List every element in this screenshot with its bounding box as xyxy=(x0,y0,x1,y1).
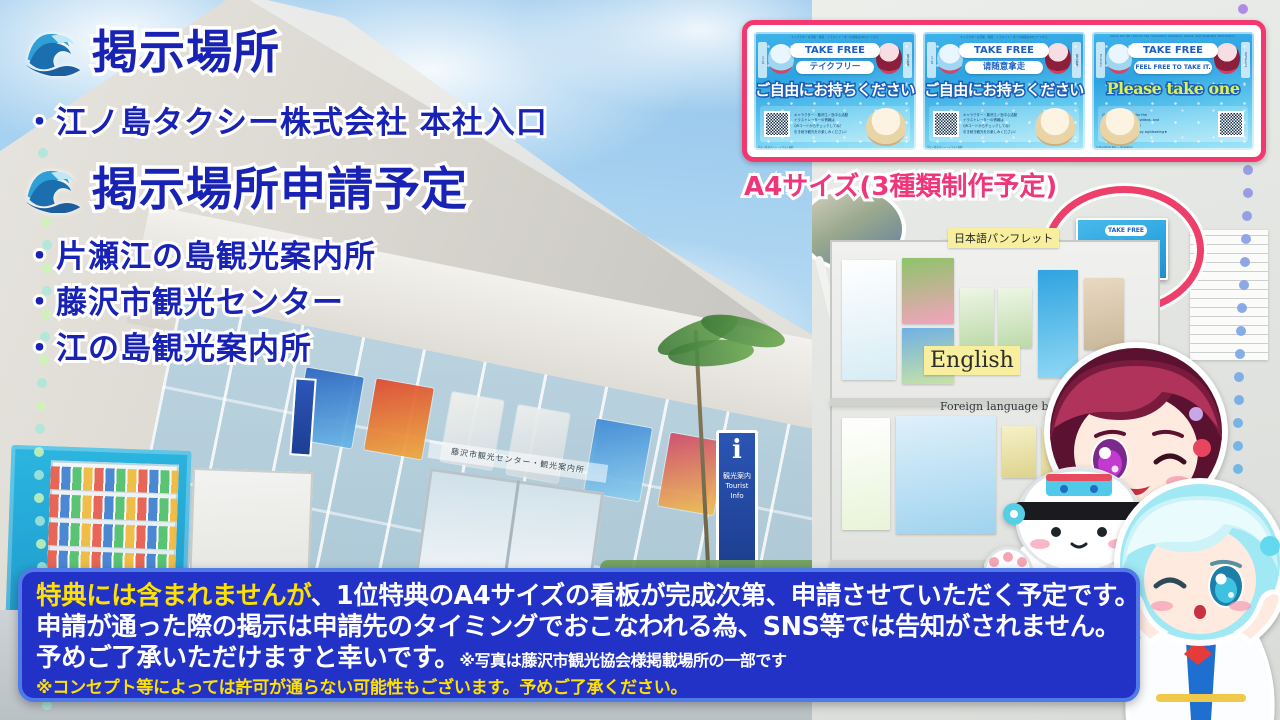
flyer-headline: ご自由にお持ちください xyxy=(923,79,1085,100)
flyer-side-label: Sightseeing xyxy=(1241,42,1250,78)
decorative-dot xyxy=(1243,188,1253,198)
heading-posted-locations: 掲示場所 xyxy=(24,28,280,76)
heading-text: 掲示場所申請予定 xyxy=(92,166,468,212)
brochure xyxy=(842,260,896,380)
flyer-headline: ご自由にお持ちください xyxy=(754,79,916,100)
sign-japanese-text: 日本語パンフレット xyxy=(954,232,1053,245)
decorative-dot xyxy=(37,378,47,388)
decorative-dot xyxy=(1240,257,1250,267)
flyer-preview-panel: キャラクターの活動・動画・イラストレーターの情報はQRコードから江ノ島観光応援中… xyxy=(742,20,1266,162)
decorative-dot xyxy=(1237,303,1247,313)
decorative-dot xyxy=(1241,234,1251,244)
banner-line-1: 特典には含まれませんが、1位特典のA4サイズの看板が完成次第、申請させていただく… xyxy=(36,581,1122,612)
planned-location-item: ・片瀬江の島観光案内所 xyxy=(24,242,376,273)
brochure xyxy=(842,418,890,530)
chibi-mascot-icon xyxy=(866,108,906,146)
flyer-panel-caption: A4サイズ(3種類制作予定) xyxy=(744,166,1057,203)
brochure xyxy=(896,416,996,534)
decorative-dot xyxy=(34,447,44,457)
flyer-side-label: 観光応援中 xyxy=(1072,42,1081,78)
banner-line-3: 予めご了承いただけますと幸いです。※写真は藤沢市観光協会様掲載場所の一部です xyxy=(36,643,1122,676)
chibi-mascot-icon xyxy=(1035,108,1075,146)
decorative-dot xyxy=(1236,326,1246,336)
chibi-icon xyxy=(876,43,902,74)
flyer-card[interactable]: Check the QR code for the characters' ac… xyxy=(1092,32,1254,150)
info-post: 観光案内 Tourist Info xyxy=(716,430,758,580)
banner-line-1-highlight: 特典には含まれませんが xyxy=(36,581,311,611)
wave-icon xyxy=(24,28,82,76)
posted-location-item: ・江ノ島タクシー株式会社 本社入口 xyxy=(24,108,548,139)
decorative-dot xyxy=(36,539,46,549)
disclaimer-banner: 特典には含まれませんが、1位特典のA4サイズの看板が完成次第、申請させていただく… xyxy=(18,568,1140,702)
decorative-dot xyxy=(34,493,44,503)
flyer-pill-subtitle: FEEL FREE TO TAKE IT. xyxy=(1134,61,1212,74)
flyer-footer: © Enoshima Taxi — illustration xyxy=(1096,146,1133,149)
decorative-dot xyxy=(36,401,46,411)
decorative-dot xyxy=(41,217,51,227)
flyer-card[interactable]: キャラクターの活動・動画・イラストレーターの情報はQRコードから江ノ島観光応援中… xyxy=(754,32,916,150)
decorative-dot xyxy=(1242,211,1252,221)
flyer-footer: ©江ノ島タクシー・イラスト制作 xyxy=(758,145,794,149)
brochure xyxy=(960,288,994,348)
flyer-footer: ©江ノ島タクシー・イラスト制作 xyxy=(927,145,963,149)
planned-location-item: ・江の島観光案内所 xyxy=(24,334,312,365)
banner-note: ※コンセプト等によっては許可が通らない可能性もございます。予めご了承ください。 xyxy=(36,676,1122,700)
wave-icon xyxy=(24,165,82,213)
chibi-icon xyxy=(1214,43,1240,74)
flyer-side-label: 江ノ島 xyxy=(758,42,767,78)
flyer-headline: Please take one xyxy=(1092,79,1254,98)
heading-planned-locations: 掲示場所申請予定 xyxy=(24,165,468,213)
flyer-card[interactable]: キャラクターの活動・動画・イラストレーターの情報はQRコードから江ノ島観光応援中… xyxy=(923,32,1085,150)
qr-code[interactable] xyxy=(1218,111,1244,137)
flyer-pill-take-free: TAKE FREE xyxy=(1128,43,1219,58)
flyer-top-note: Check the QR code for the characters' ac… xyxy=(1092,35,1254,38)
flyer-side-label: Enoshima xyxy=(1096,42,1105,78)
slide-root: 藤沢市観光センター・観光案内所 観光案内 Tourist Info TAKE F… xyxy=(0,0,1280,720)
flyer-pill-take-free: TAKE FREE xyxy=(790,43,881,58)
vending-window xyxy=(47,460,179,584)
qr-code[interactable] xyxy=(764,111,790,137)
flyer-pill-take-free: TAKE FREE xyxy=(959,43,1050,58)
brochure xyxy=(902,258,954,324)
chibi-mascot-icon xyxy=(1100,108,1140,146)
decorative-dot xyxy=(35,516,45,526)
decorative-dot xyxy=(38,148,48,158)
flyer-side-label: 江ノ島 xyxy=(927,42,936,78)
flyer-pill-subtitle: 请随意拿走 xyxy=(965,61,1043,74)
decorative-dot xyxy=(35,424,45,434)
sign-japanese: 日本語パンフレット xyxy=(948,228,1059,248)
flyer-top-note: キャラクターの活動・動画・イラストレーターの情報はQRコードから xyxy=(754,35,916,39)
banner-line-3-note: ※写真は藤沢市観光協会様掲載場所の一部です xyxy=(459,651,786,670)
qr-code[interactable] xyxy=(933,111,959,137)
banner-line-2: 申請が通った際の掲示は申請先のタイミングでおこなわれる為、SNS等では告知がされ… xyxy=(36,612,1122,643)
flyer-pill-subtitle: テイクフリー xyxy=(796,61,874,74)
info-post-label: 観光案内 Tourist Info xyxy=(719,471,755,501)
window-poster xyxy=(364,379,434,460)
planned-location-item: ・藤沢市観光センター xyxy=(24,288,344,319)
heading-text: 掲示場所 xyxy=(92,29,280,75)
decorative-dot xyxy=(34,470,44,480)
chibi-icon xyxy=(1045,43,1071,74)
decorative-dot xyxy=(1243,165,1253,175)
decorative-dot xyxy=(1238,4,1248,14)
flyer-side-label: 観光応援中 xyxy=(903,42,912,78)
flyer-top-note: キャラクターの活動・動画・イラストレーターの情報はQRコードから xyxy=(923,35,1085,39)
banner-line-1-rest: 、1位特典のA4サイズの看板が完成次第、申請させていただく予定です。 xyxy=(311,581,1140,611)
decorative-dot xyxy=(1239,280,1249,290)
banner-line-3-main: 予めご了承いただけますと幸いです。 xyxy=(36,643,459,673)
